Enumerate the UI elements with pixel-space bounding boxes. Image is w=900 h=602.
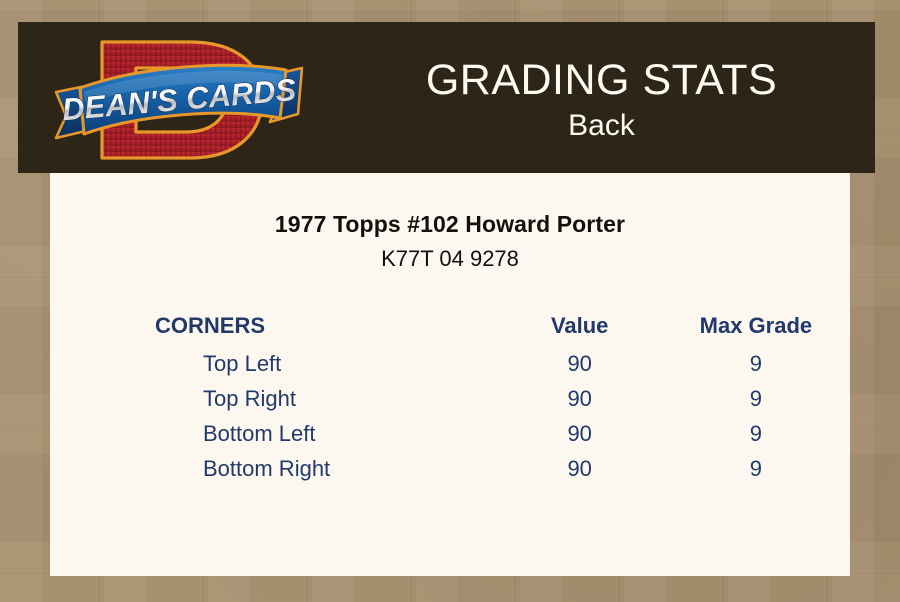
table-row: Bottom Left 90 9 [50, 416, 850, 451]
column-header-corners: CORNERS [50, 306, 498, 346]
column-header-value: Value [498, 306, 662, 346]
page-root: DEAN'S CARDS GRADING STATS Back 1977 Top… [0, 0, 900, 602]
table-row: Top Right 90 9 [50, 381, 850, 416]
row-label-bottom-left: Bottom Left [50, 416, 498, 451]
row-max-grade-bottom-left: 9 [662, 416, 850, 451]
stats-table-body: Top Left 90 9 Top Right 90 9 Bottom Left… [50, 346, 850, 486]
deans-cards-logo: DEAN'S CARDS [40, 26, 320, 172]
page-subtitle: Back [568, 109, 635, 144]
stats-header-row: CORNERS Value Max Grade [50, 306, 850, 346]
table-row: Top Left 90 9 [50, 346, 850, 381]
row-label-top-right: Top Right [50, 381, 498, 416]
card-title: 1977 Topps #102 Howard Porter [50, 173, 850, 238]
stats-table-head: CORNERS Value Max Grade [50, 306, 850, 346]
row-value-top-left: 90 [498, 346, 662, 381]
row-value-bottom-left: 90 [498, 416, 662, 451]
table-row: Bottom Right 90 9 [50, 451, 850, 486]
content-panel: 1977 Topps #102 Howard Porter K77T 04 92… [50, 173, 850, 576]
header-title-block: GRADING STATS Back [328, 22, 875, 173]
row-label-top-left: Top Left [50, 346, 498, 381]
logo-ribbon: DEAN'S CARDS [56, 65, 302, 138]
column-header-max-grade: Max Grade [662, 306, 850, 346]
row-max-grade-bottom-right: 9 [662, 451, 850, 486]
card-serial-number: K77T 04 9278 [50, 238, 850, 272]
page-title: GRADING STATS [426, 58, 777, 103]
row-max-grade-top-right: 9 [662, 381, 850, 416]
row-value-bottom-right: 90 [498, 451, 662, 486]
header-bar: DEAN'S CARDS GRADING STATS Back [18, 22, 875, 173]
grading-stats-table: CORNERS Value Max Grade Top Left 90 9 To… [50, 306, 850, 486]
row-max-grade-top-left: 9 [662, 346, 850, 381]
row-label-bottom-right: Bottom Right [50, 451, 498, 486]
row-value-top-right: 90 [498, 381, 662, 416]
